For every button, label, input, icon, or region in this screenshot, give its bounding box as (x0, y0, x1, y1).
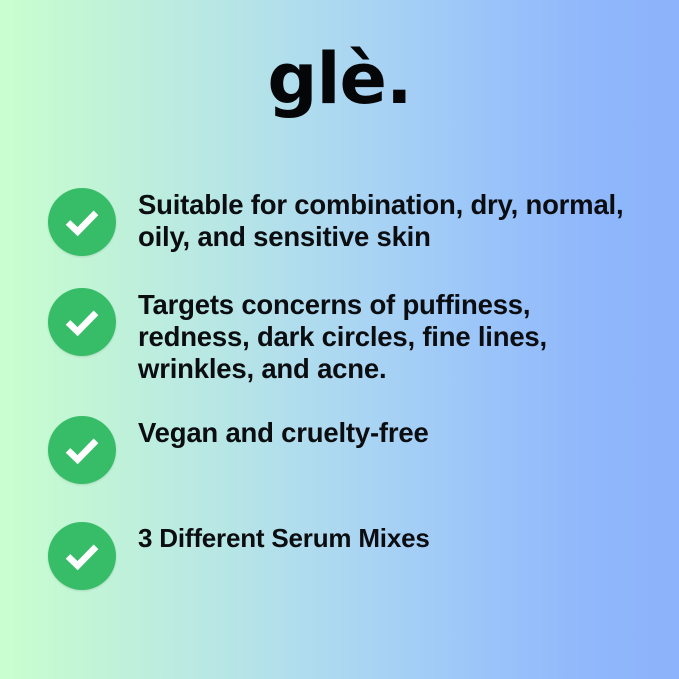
check-circle-icon (48, 288, 116, 356)
feature-text: Targets concerns of puffiness, redness, … (138, 278, 648, 386)
list-item: Suitable for combination, dry, normal, o… (48, 178, 648, 256)
feature-list: Suitable for combination, dry, normal, o… (48, 178, 648, 590)
list-item: 3 Different Serum Mixes (48, 512, 648, 590)
feature-text: Vegan and cruelty-free (138, 406, 648, 449)
check-circle-icon (48, 188, 116, 256)
brand-wordmark: glè. (0, 44, 679, 114)
list-item: Targets concerns of puffiness, redness, … (48, 278, 648, 386)
check-circle-icon (48, 416, 116, 484)
product-feature-poster: glè. Suitable for combination, dry, norm… (0, 0, 679, 679)
list-item: Vegan and cruelty-free (48, 406, 648, 484)
feature-text: Suitable for combination, dry, normal, o… (138, 178, 648, 253)
check-circle-icon (48, 522, 116, 590)
feature-text: 3 Different Serum Mixes (138, 512, 648, 553)
